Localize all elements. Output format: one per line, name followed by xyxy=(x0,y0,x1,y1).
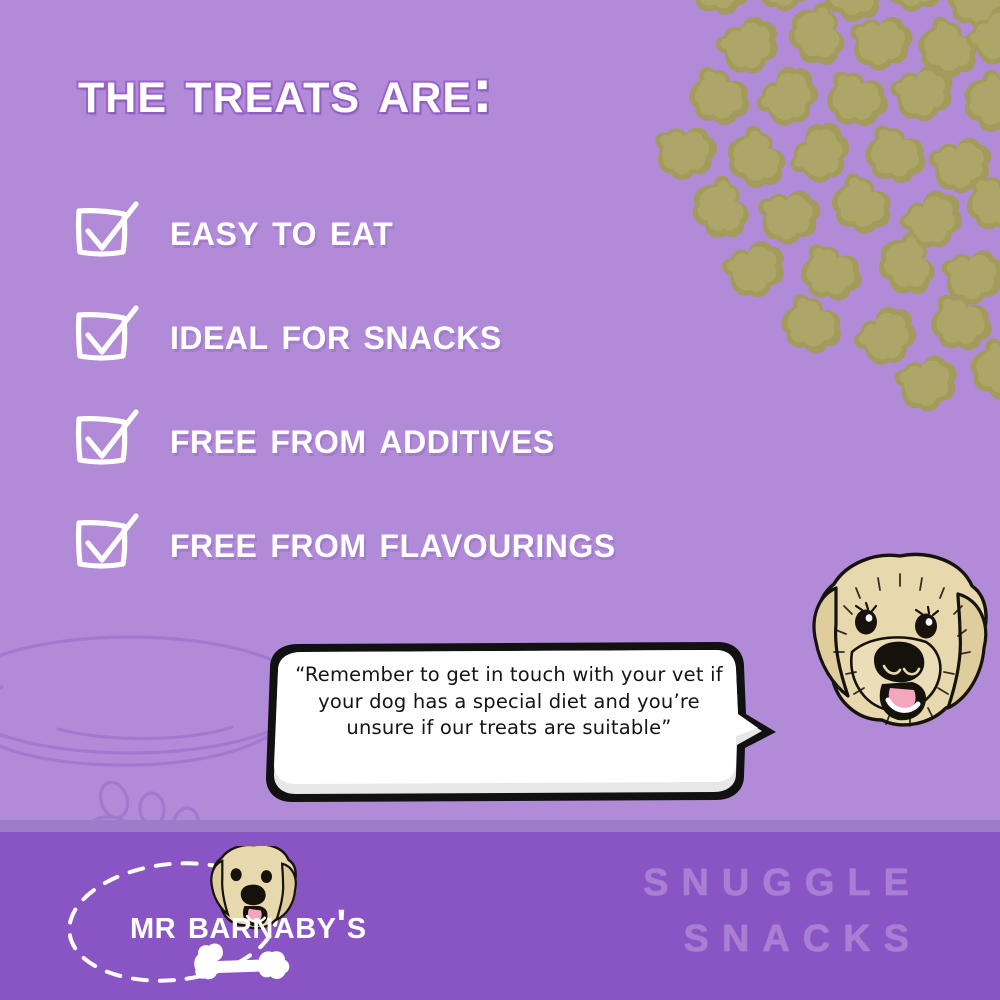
brand-logo[interactable]: Mr Barnaby's xyxy=(55,846,365,996)
list-item: Free From Flavourings xyxy=(72,490,852,594)
logo-wordmark: Mr Barnaby's xyxy=(130,901,367,948)
speech-bubble-text: “Remember to get in touch with your vet … xyxy=(284,662,734,742)
checkbox-checked-icon xyxy=(72,406,142,470)
dog-mascot-face xyxy=(790,548,1000,753)
list-item-label: Easy To Eat xyxy=(170,204,393,256)
checkbox-checked-icon xyxy=(72,198,142,262)
page-title: The Treats Are: xyxy=(78,56,494,127)
list-item-label: Ideal For Snacks xyxy=(170,308,502,360)
list-item: Ideal For Snacks xyxy=(72,282,852,386)
list-item-label: Free From Flavourings xyxy=(170,516,616,568)
checkbox-checked-icon xyxy=(72,302,142,366)
list-item: Easy To Eat xyxy=(72,178,852,282)
list-item: Free From Additives xyxy=(72,386,852,490)
brand-line-2: SNACKS xyxy=(684,918,922,961)
list-item-label: Free From Additives xyxy=(170,412,555,464)
benefits-checklist: Easy To Eat Ideal For Snacks Free From A… xyxy=(72,178,852,594)
poster-canvas: The Treats Are: Easy To Eat Ideal For Sn… xyxy=(0,0,1000,1000)
checkbox-checked-icon xyxy=(72,510,142,574)
speech-bubble: “Remember to get in touch with your vet … xyxy=(248,636,778,811)
footer-divider xyxy=(0,820,1000,832)
brand-line-1: SNUGGLE xyxy=(643,862,922,905)
